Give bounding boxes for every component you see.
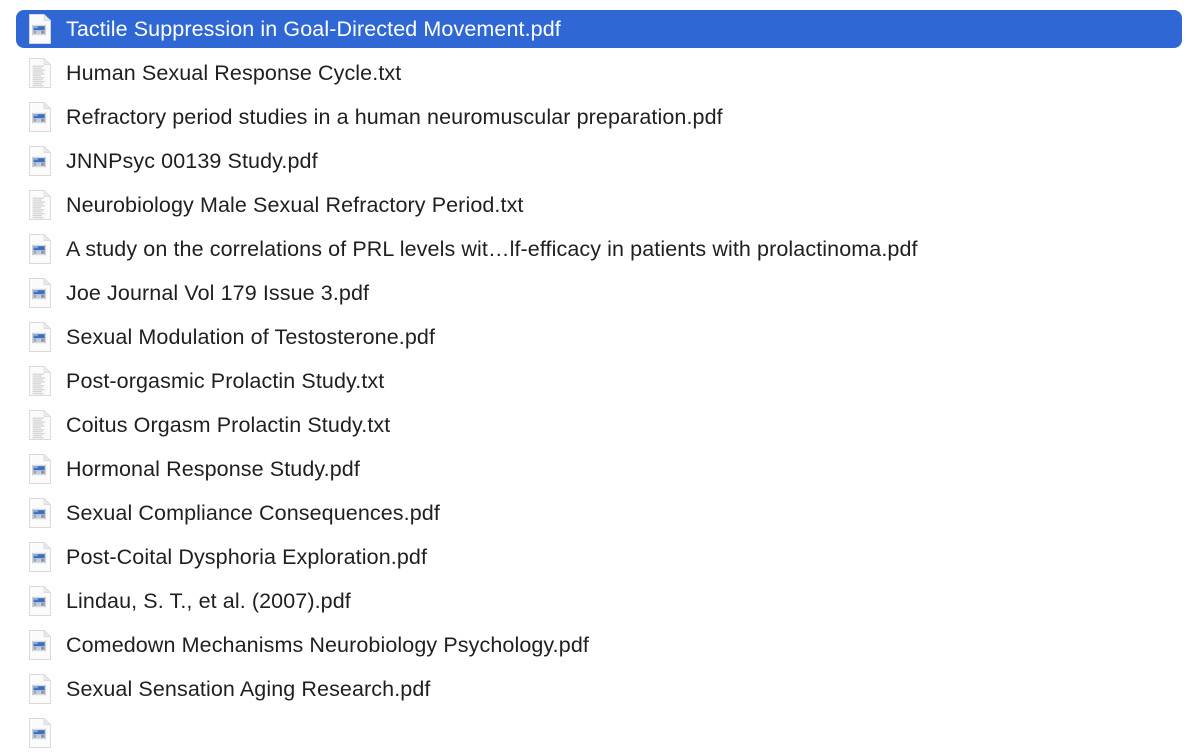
file-list-item[interactable] [16, 714, 1182, 752]
file-list[interactable]: Tactile Suppression in Goal-Directed Mov… [0, 0, 1198, 718]
file-name-label: JNNPsyc 00139 Study.pdf [66, 146, 318, 176]
file-name-label: A study on the correlations of PRL level… [66, 234, 918, 264]
file-name-label: Sexual Compliance Consequences.pdf [66, 498, 440, 528]
file-list-item[interactable]: Sexual Compliance Consequences.pdf [16, 494, 1182, 532]
file-list-item[interactable]: Post-Coital Dysphoria Exploration.pdf [16, 538, 1182, 576]
txt-file-icon [28, 58, 52, 88]
pdf-file-icon [28, 146, 52, 176]
file-name-label: Hormonal Response Study.pdf [66, 454, 360, 484]
file-list-item[interactable]: Sexual Sensation Aging Research.pdf [16, 670, 1182, 708]
file-name-label: Sexual Modulation of Testosterone.pdf [66, 322, 435, 352]
file-list-item[interactable]: Tactile Suppression in Goal-Directed Mov… [16, 10, 1182, 48]
file-list-item[interactable]: Neurobiology Male Sexual Refractory Peri… [16, 186, 1182, 224]
pdf-file-icon [28, 718, 52, 748]
file-list-item[interactable]: Comedown Mechanisms Neurobiology Psychol… [16, 626, 1182, 664]
file-name-label: Tactile Suppression in Goal-Directed Mov… [66, 14, 561, 44]
txt-file-icon [28, 366, 52, 396]
file-list-item[interactable]: JNNPsyc 00139 Study.pdf [16, 142, 1182, 180]
file-list-item[interactable]: Hormonal Response Study.pdf [16, 450, 1182, 488]
file-name-label: Post-orgasmic Prolactin Study.txt [66, 366, 384, 396]
txt-file-icon [28, 190, 52, 220]
txt-file-icon [28, 410, 52, 440]
pdf-file-icon [28, 630, 52, 660]
file-list-item[interactable]: Lindau, S. T., et al. (2007).pdf [16, 582, 1182, 620]
file-name-label: Joe Journal Vol 179 Issue 3.pdf [66, 278, 369, 308]
file-list-item[interactable]: Joe Journal Vol 179 Issue 3.pdf [16, 274, 1182, 312]
pdf-file-icon [28, 278, 52, 308]
file-list-item[interactable]: Human Sexual Response Cycle.txt [16, 54, 1182, 92]
file-list-item[interactable]: A study on the correlations of PRL level… [16, 230, 1182, 268]
file-list-item[interactable]: Refractory period studies in a human neu… [16, 98, 1182, 136]
file-list-item[interactable]: Post-orgasmic Prolactin Study.txt [16, 362, 1182, 400]
pdf-file-icon [28, 586, 52, 616]
pdf-file-icon [28, 234, 52, 264]
pdf-file-icon [28, 14, 52, 44]
file-name-label: Neurobiology Male Sexual Refractory Peri… [66, 190, 524, 220]
pdf-file-icon [28, 102, 52, 132]
file-name-label: Lindau, S. T., et al. (2007).pdf [66, 586, 351, 616]
file-name-label: Comedown Mechanisms Neurobiology Psychol… [66, 630, 589, 660]
pdf-file-icon [28, 498, 52, 528]
file-name-label: Refractory period studies in a human neu… [66, 102, 723, 132]
file-name-label: Coitus Orgasm Prolactin Study.txt [66, 410, 390, 440]
file-list-item[interactable]: Sexual Modulation of Testosterone.pdf [16, 318, 1182, 356]
pdf-file-icon [28, 674, 52, 704]
pdf-file-icon [28, 454, 52, 484]
file-list-item[interactable]: Coitus Orgasm Prolactin Study.txt [16, 406, 1182, 444]
file-name-label: Post-Coital Dysphoria Exploration.pdf [66, 542, 427, 572]
pdf-file-icon [28, 542, 52, 572]
file-name-label: Human Sexual Response Cycle.txt [66, 58, 401, 88]
pdf-file-icon [28, 322, 52, 352]
file-name-label: Sexual Sensation Aging Research.pdf [66, 674, 430, 704]
